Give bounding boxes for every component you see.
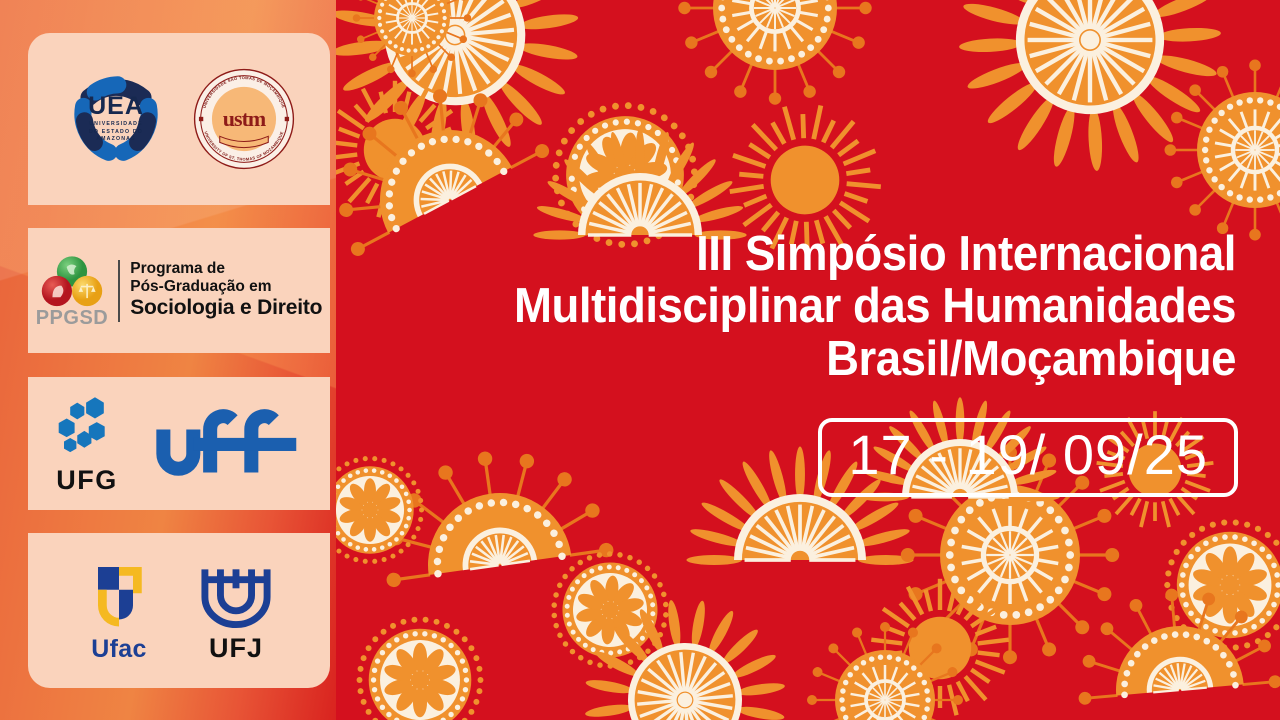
event-title-line3: Brasil/Moçambique [464,333,1236,385]
logo-uff [152,407,302,480]
logo-ufac: Ufac [84,558,154,664]
sponsor-group-universities: UEA UNIVERSIDADE DO ESTADO DO AMAZONAS [28,33,330,205]
ppgsd-circles-icon [40,254,104,312]
sponsor-group-ufg-uff: UFG [28,377,330,510]
ppgsd-acronym: PPGSD [36,308,109,328]
ppgsd-text-block: Programa de Pós-Graduação em Sociologia … [130,260,322,320]
logo-ppgsd: PPGSD [36,254,109,328]
logo-ufj: UFJ [198,557,274,664]
logo-ustm: UNIVERSIDADE SÃO TOMÁS DE MOÇAMBIQUE UNI… [192,67,296,171]
event-date-badge: 17 - 19/ 09/25 [818,418,1238,497]
ustm-acronym: ustm [223,106,265,132]
ufj-crest-icon [198,557,274,630]
uea-subtitle: UNIVERSIDADE DO ESTADO DO AMAZONAS [89,121,143,144]
ppgsd-divider [118,260,120,322]
uea-acronym: UEA [88,94,144,119]
uea-subtitle-line2: DO ESTADO DO [89,129,143,137]
ufac-shield-icon [84,558,154,632]
event-date-text: 17 - 19/ 09/25 [848,425,1208,485]
logo-ufg: UFG [56,392,118,496]
event-title-line2: Multidisciplinar das Humanidades [464,280,1236,332]
sponsor-group-ufac-ufj: Ufac [28,533,330,688]
ufj-acronym: UFJ [209,633,263,664]
ufg-hexagons-icon [56,392,118,461]
ufac-acronym: Ufac [91,635,146,664]
ppgsd-line3: Sociologia e Direito [130,296,322,320]
uea-subtitle-line1: UNIVERSIDADE [89,121,143,129]
uff-wordmark-icon [152,407,302,480]
event-title-line1: III Simpósio Internacional [464,228,1236,280]
event-poster: UEA UNIVERSIDADE DO ESTADO DO AMAZONAS [0,0,1280,720]
sponsor-group-ppgsd: PPGSD Programa de Pós-Graduação em Socio… [28,228,330,353]
logo-uea: UEA UNIVERSIDADE DO ESTADO DO AMAZONAS [62,65,170,173]
uea-subtitle-line3: AMAZONAS [89,136,143,144]
ppgsd-line2: Pós-Graduação em [130,278,322,296]
ppgsd-line1: Programa de [130,260,322,278]
ufg-acronym: UFG [56,465,118,496]
sponsor-sidebar: UEA UNIVERSIDADE DO ESTADO DO AMAZONAS [0,0,336,720]
event-title: III Simpósio Internacional Multidiscipli… [406,228,1236,385]
